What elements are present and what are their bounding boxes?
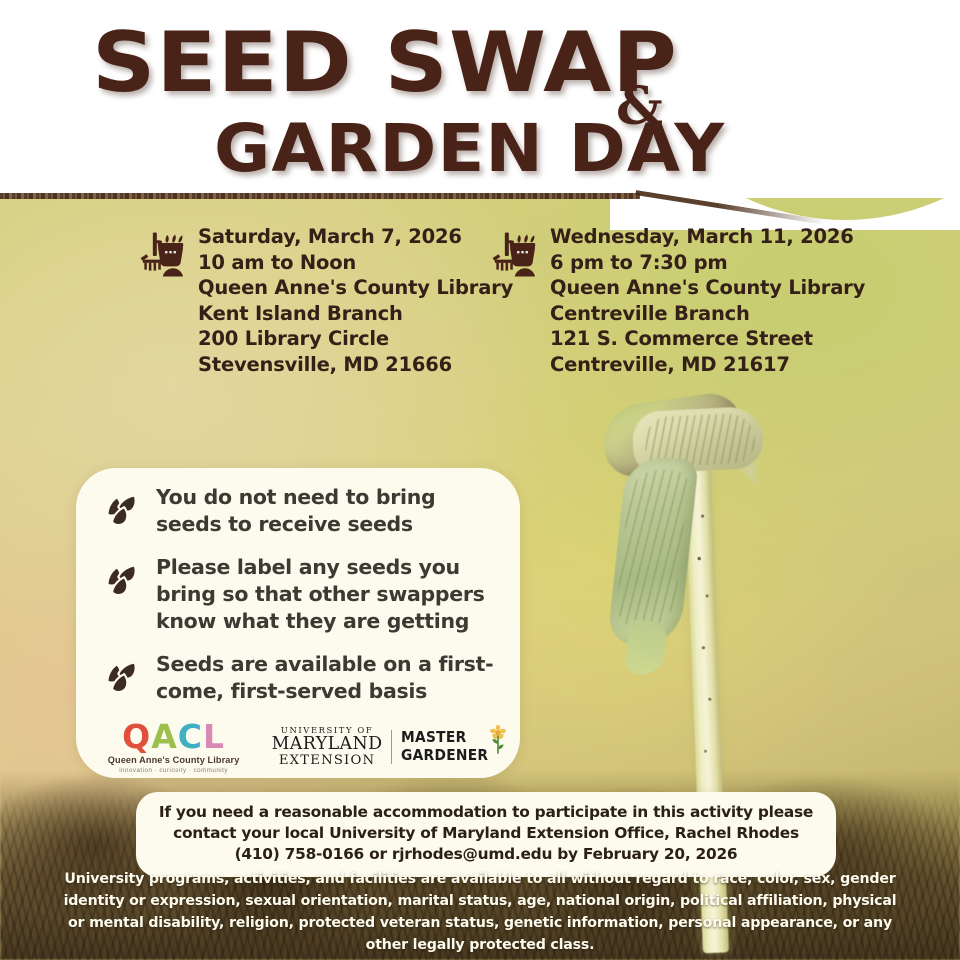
garden-tools-icon	[484, 227, 542, 285]
event-branch: Kent Island Branch	[198, 301, 532, 327]
qacl-logo: QACL Queen Anne's County Library innovat…	[100, 720, 248, 774]
event-date: Saturday, March 7, 2026	[198, 224, 532, 250]
qacl-tagline: innovation · curiosity · community	[100, 767, 248, 774]
nondiscrimination-disclaimer: University programs, activities, and fac…	[62, 868, 898, 956]
bullet-text: Seeds are available on a first-come, fir…	[156, 651, 506, 705]
list-item: Please label any seeds you bring so that…	[94, 554, 506, 635]
qacl-letter-a: A	[151, 717, 178, 756]
event-time: 6 pm to 7:30 pm	[550, 250, 904, 276]
event-street: 200 Library Circle	[198, 326, 532, 352]
event-details: Wednesday, March 11, 2026 6 pm to 7:30 p…	[550, 224, 904, 378]
garden-tools-icon	[132, 227, 190, 285]
qacl-letter-q: Q	[122, 717, 151, 756]
title-line-2: GARDEN DAY	[214, 110, 725, 187]
umd-extension-master-gardener-logo: UNIVERSITY OF MARYLAND EXTENSION MASTER …	[272, 726, 497, 767]
list-item: You do not need to bring seeds to receiv…	[94, 484, 506, 538]
event-branch: Centreville Branch	[550, 301, 904, 327]
title-line-1: SEED SWAP	[92, 14, 678, 111]
qacl-letter-l: L	[203, 717, 225, 756]
page-title: SEED SWAP & GARDEN DAY	[0, 0, 960, 196]
qacl-name: Queen Anne's County Library	[100, 755, 248, 765]
flower-icon	[487, 725, 509, 755]
bullet-text: You do not need to bring seeds to receiv…	[156, 484, 506, 538]
info-card: You do not need to bring seeds to receiv…	[76, 468, 520, 778]
accommodation-notice: If you need a reasonable accommodation t…	[136, 792, 836, 877]
event-organization: Queen Anne's County Library	[550, 275, 904, 301]
qacl-letters: QACL	[100, 720, 248, 754]
master-gardener-line-1: MASTER	[401, 730, 488, 745]
umd-extension-logo: UNIVERSITY OF MARYLAND EXTENSION	[272, 726, 383, 767]
logo-divider	[391, 730, 392, 764]
seed-sprout-icon	[100, 657, 142, 697]
list-item: Seeds are available on a first-come, fir…	[94, 651, 506, 705]
master-gardener-line-2: GARDENER	[401, 748, 488, 763]
sprout-leaf-tip	[623, 619, 668, 678]
logo-row: QACL Queen Anne's County Library innovat…	[76, 718, 520, 776]
bullet-text: Please label any seeds you bring so that…	[156, 554, 506, 635]
event-kent-island: Saturday, March 7, 2026 10 am to Noon Qu…	[132, 224, 532, 378]
event-organization: Queen Anne's County Library	[198, 275, 532, 301]
poster-root: SEED SWAP & GARDEN DAY	[0, 0, 960, 960]
event-centreville: Wednesday, March 11, 2026 6 pm to 7:30 p…	[484, 224, 904, 378]
umd-line-3: EXTENSION	[272, 754, 383, 767]
event-city: Stevensville, MD 21666	[198, 352, 532, 378]
qacl-letter-c: C	[178, 717, 203, 756]
event-time: 10 am to Noon	[198, 250, 532, 276]
bullet-list: You do not need to bring seeds to receiv…	[94, 484, 506, 721]
master-gardener-logo: MASTER GARDENER	[401, 730, 496, 763]
event-street: 121 S. Commerce Street	[550, 326, 904, 352]
umd-line-2: MARYLAND	[272, 736, 383, 753]
seed-sprout-icon	[100, 560, 142, 600]
event-details: Saturday, March 7, 2026 10 am to Noon Qu…	[198, 224, 532, 378]
seed-sprout-icon	[100, 490, 142, 530]
event-date: Wednesday, March 11, 2026	[550, 224, 904, 250]
event-city: Centreville, MD 21617	[550, 352, 904, 378]
